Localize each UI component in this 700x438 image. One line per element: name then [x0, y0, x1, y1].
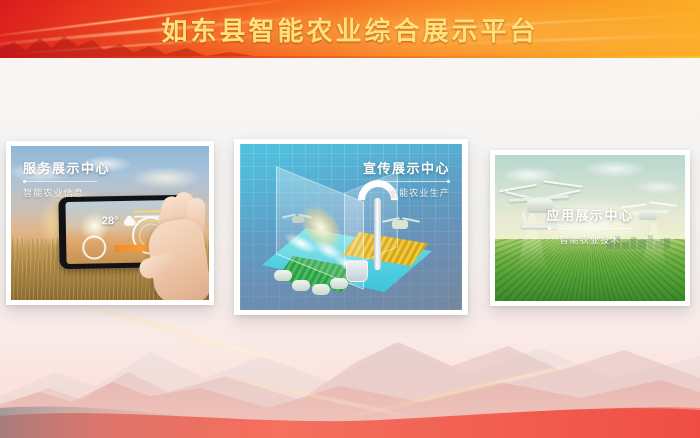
card-application-image: 应用展示中心 智能农业技术: [495, 155, 685, 301]
card-service-image: 28° 服务展示中心 智能农业信息: [11, 146, 209, 300]
card-promotion-title: 宣传展示中心: [363, 158, 450, 177]
card-application-display-center[interactable]: 应用展示中心 智能农业技术: [490, 150, 690, 306]
temperature-value: 28°: [102, 215, 119, 227]
hay-roll-icon: [274, 270, 292, 281]
hay-roll-icon: [292, 280, 310, 291]
card-service-divider: [23, 181, 97, 182]
hay-roll-icon: [330, 278, 348, 289]
card-promotion-image: 宣传展示中心 智能农业生产: [240, 144, 462, 310]
card-promotion-text: 宣传展示中心 智能农业生产: [363, 158, 450, 199]
card-application-divider: [548, 228, 632, 229]
drone-icon: [286, 212, 312, 226]
page-title: 如东县智能农业综合展示平台: [0, 0, 700, 58]
card-application-title: 应用展示中心: [495, 205, 685, 224]
hay-roll-icon: [312, 284, 330, 295]
card-promotion-display-center[interactable]: 宣传展示中心 智能农业生产: [234, 139, 468, 315]
bucket-icon: [346, 260, 368, 282]
banner-bottom-edge: [0, 56, 700, 58]
card-service-text: 服务展示中心 智能农业信息: [23, 158, 110, 199]
hand-icon: [131, 190, 209, 300]
card-application-text: 应用展示中心 智能农业技术: [495, 205, 685, 246]
app-stage: 如东县智能农业综合展示平台 28°: [0, 0, 700, 438]
card-promotion-subtitle: 智能农业生产: [363, 186, 450, 199]
card-service-display-center[interactable]: 28° 服务展示中心 智能农业信息: [6, 141, 214, 305]
card-service-title: 服务展示中心: [23, 158, 110, 177]
card-application-subtitle: 智能农业技术: [495, 233, 685, 246]
drone-icon: [386, 216, 420, 234]
card-service-subtitle: 智能农业信息: [23, 186, 110, 199]
header-banner: 如东县智能农业综合展示平台: [0, 0, 700, 58]
card-promotion-divider: [372, 181, 450, 182]
hud-ring-small-icon: [82, 235, 106, 259]
